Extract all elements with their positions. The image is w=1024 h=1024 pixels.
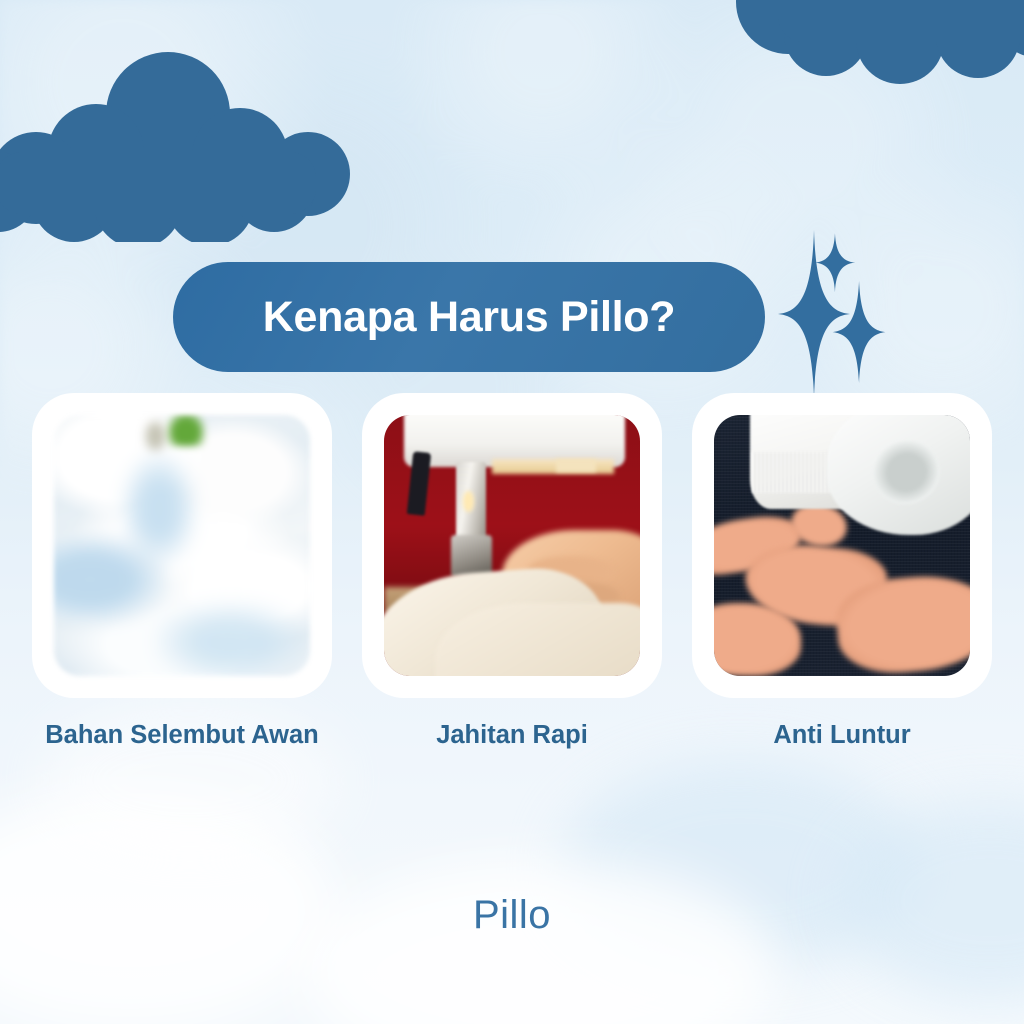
brand-name: Pillo [0, 893, 1024, 938]
photo-frame [32, 393, 332, 698]
feature-card-caption: Anti Luntur [697, 719, 987, 752]
bleach-stained-fabric-photo [714, 415, 970, 676]
cloud-top-left [0, 52, 398, 242]
feature-card-caption: Bahan Selembut Awan [37, 719, 327, 752]
fiber-blue-wash-3 [156, 603, 304, 676]
fiber-blue-wash-2 [121, 452, 198, 567]
feature-card[interactable]: Jahitan Rapi [362, 393, 662, 752]
photo-frame [692, 393, 992, 698]
feature-card[interactable]: Anti Luntur [692, 393, 992, 752]
poster-canvas: Kenapa Harus Pillo? Baha [0, 0, 1024, 1024]
title-banner: Kenapa Harus Pillo? [173, 262, 765, 372]
title-banner-wrap: Kenapa Harus Pillo? [173, 262, 765, 372]
machine-lip-highlight [556, 459, 597, 472]
photo-frame [362, 393, 662, 698]
presser-foot [451, 535, 492, 577]
feature-card-caption: Jahitan Rapi [367, 719, 657, 752]
feature-card[interactable]: Bahan Selembut Awan [32, 393, 332, 752]
sewing-machine-photo [384, 415, 640, 676]
feature-cards: Bahan Selembut Awan [0, 393, 1024, 752]
cloud-soft-fiber-photo [54, 415, 310, 676]
metal-glint [463, 491, 473, 512]
cloud-top-right [668, 0, 1024, 100]
fiber-stem-detail [144, 420, 167, 451]
green-leaf-detail [167, 415, 205, 446]
page-title: Kenapa Harus Pillo? [263, 293, 675, 342]
